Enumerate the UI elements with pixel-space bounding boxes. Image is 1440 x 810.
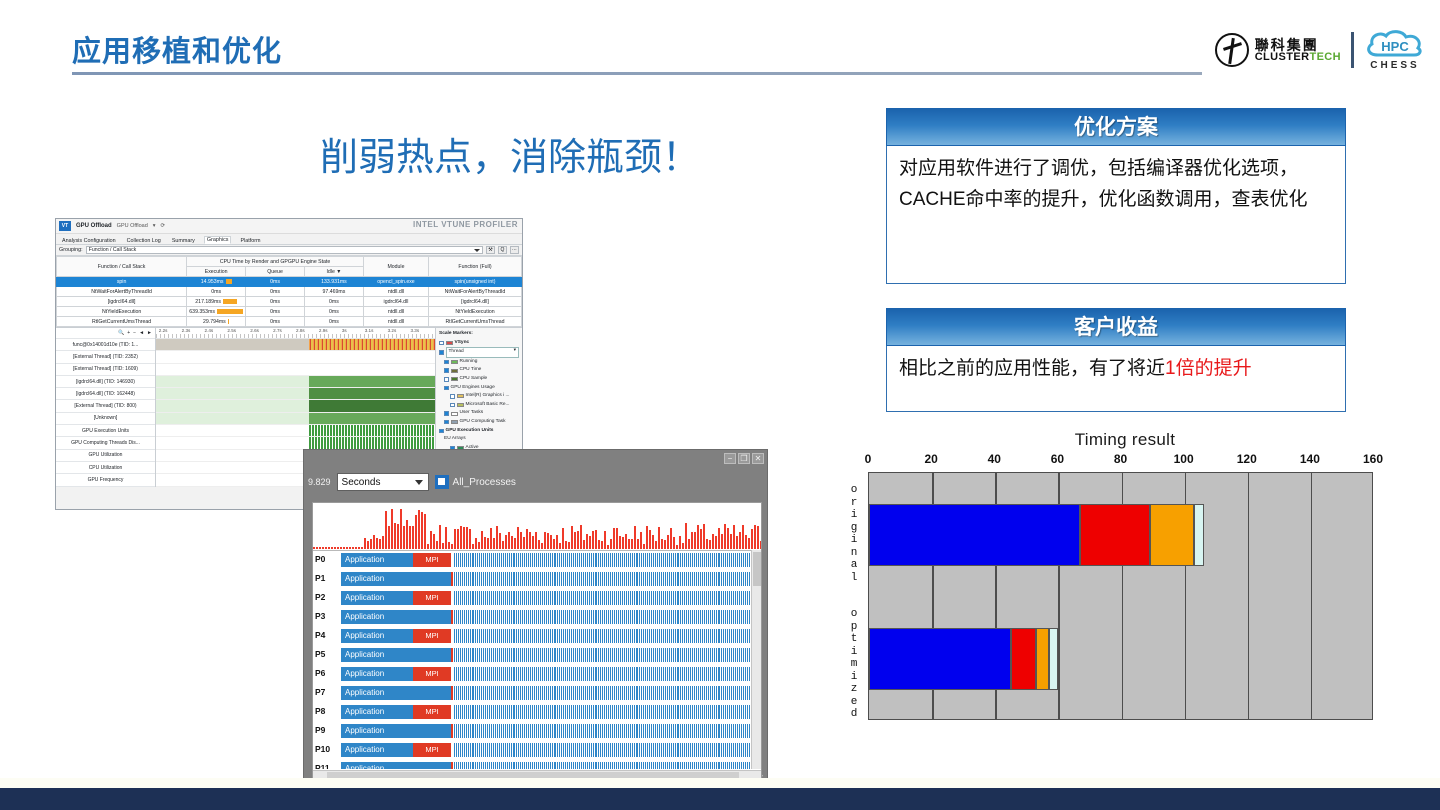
histogram-bar: [343, 547, 345, 549]
timeline-row-label[interactable]: GPU Computing Threads Dis...: [56, 437, 155, 449]
chevron-down-icon: [415, 480, 423, 485]
timeline-track: [156, 425, 435, 437]
histogram-bar: [430, 531, 432, 549]
histogram-bar: [604, 531, 606, 549]
application-segment[interactable]: Application: [341, 629, 413, 643]
trace-process-row[interactable]: P10ApplicationMPI: [313, 741, 761, 760]
histogram-bar: [382, 536, 384, 549]
application-segment[interactable]: Application: [341, 743, 413, 757]
bar-segment-segment-3: [1036, 628, 1049, 690]
legend-label: Microsoft Basic Re...: [466, 401, 510, 410]
clustertech-mark-icon: [1215, 33, 1249, 67]
histogram-bar: [631, 539, 633, 549]
timeline-track: [156, 376, 435, 388]
window-controls[interactable]: − ❐ ✕: [724, 453, 764, 464]
table-cell: ntdll.dll: [363, 317, 428, 327]
histogram-bar: [436, 541, 438, 549]
histogram-bar: [349, 547, 351, 549]
dense-activity-region: [453, 705, 757, 719]
vertical-scrollbar[interactable]: [751, 550, 761, 769]
histogram-bar: [388, 526, 390, 549]
timeline-row-label[interactable]: CPU Utilization: [56, 462, 155, 474]
checkbox-icon[interactable]: [444, 368, 449, 373]
checkbox-icon[interactable]: [444, 411, 449, 416]
checkbox-icon[interactable]: [444, 420, 449, 425]
legend-item[interactable]: GPU Computing Task: [439, 418, 519, 427]
histogram-bar: [319, 547, 321, 549]
bar-segment-segment-2: [1080, 504, 1149, 566]
histogram-bar: [424, 514, 426, 549]
checkbox-icon[interactable]: [450, 403, 455, 408]
mpi-segment[interactable]: MPI: [413, 705, 451, 719]
gridline: [1248, 473, 1250, 719]
histogram-bar: [328, 547, 330, 549]
panel-optimization-body: 对应用软件进行了调优，包括编译器优化选项，CACHE命中率的提升，优化函数调用，…: [886, 146, 1346, 284]
trace-toolbar: 9.829 Seconds All_Processes »: [304, 468, 767, 496]
histogram-bar: [589, 536, 591, 549]
timeline-tool-icon[interactable]: −: [133, 330, 136, 336]
histogram-bar: [721, 534, 723, 549]
histogram-bar: [391, 509, 393, 549]
process-id-label: P3: [315, 611, 325, 621]
timeline-row-label[interactable]: [Unknown]: [56, 413, 155, 425]
histogram-bar: [703, 524, 705, 549]
vtune-tab-collection-log[interactable]: Collection Log: [125, 238, 163, 244]
vtune-app-subtitle: GPU Offload: [117, 223, 148, 229]
legend-item[interactable]: EU Arrays: [439, 435, 519, 444]
histogram-bar: [412, 526, 414, 549]
panel-customer-benefit: 客户收益 相比之前的应用性能，有了将近1倍的提升: [886, 308, 1346, 412]
histogram-bar: [613, 528, 615, 549]
histogram-bar: [439, 525, 441, 549]
trace-viewer-window[interactable]: − ❐ ✕ 9.829 Seconds All_Processes » P0Ap…: [303, 449, 768, 787]
x-axis-tick: 160: [1363, 452, 1383, 466]
application-segment[interactable]: Application: [341, 686, 451, 700]
trace-histogram: [313, 503, 761, 549]
histogram-bar: [526, 529, 528, 549]
mpi-segment[interactable]: MPI: [413, 553, 451, 567]
bar-segment-segment-4: [1194, 504, 1203, 566]
timeline-track: [156, 413, 435, 425]
histogram-bar: [361, 547, 363, 549]
table-cell: NtWaitForAlertByThreadId: [429, 287, 522, 297]
grouping-label: Grouping:: [59, 247, 83, 253]
chess-logo: HPC CHESS: [1364, 29, 1426, 71]
vtune-dropdown-caret-icon[interactable]: ▾: [153, 223, 156, 229]
chevron-down-icon[interactable]: ▾: [514, 347, 516, 356]
legend-swatch: [451, 360, 458, 364]
mpi-segment[interactable]: MPI: [413, 591, 451, 605]
histogram-bar: [355, 547, 357, 549]
table-cell: 0ms: [305, 297, 364, 307]
unit-select-value: Seconds: [342, 477, 381, 488]
ruler-tick: 3.1s: [365, 328, 374, 333]
x-axis-tick: 20: [924, 452, 937, 466]
timeline-track: [156, 364, 435, 376]
application-segment[interactable]: Application: [341, 572, 451, 586]
vtune-titlebar: VT GPU Offload GPU Offload ▾ ⟳ INTEL VTU…: [56, 219, 522, 234]
histogram-bar: [529, 532, 531, 549]
process-id-label: P11: [315, 763, 330, 769]
histogram-bar: [520, 532, 522, 549]
table-row[interactable]: [igdrcl64.dll]217.189ms0ms0msigdrcl64.dl…: [57, 297, 522, 307]
legend-item[interactable]: VSync: [439, 339, 519, 348]
histogram-bar: [523, 537, 525, 549]
dense-activity-region: [453, 572, 757, 586]
histogram-bar: [751, 529, 753, 549]
trace-process-rows[interactable]: P0ApplicationMPIP1ApplicationP2Applicati…: [313, 550, 761, 769]
histogram-bar: [472, 544, 474, 549]
histogram-bar: [316, 547, 318, 549]
svg-text:HPC: HPC: [1381, 39, 1409, 54]
bar-segment-segment-1: [869, 628, 1011, 690]
title-divider: [72, 72, 1202, 75]
histogram-bar: [553, 539, 555, 549]
histogram-bar: [700, 529, 702, 549]
histogram-bar: [754, 525, 756, 549]
histogram-bar: [532, 536, 534, 549]
histogram-bar: [583, 540, 585, 549]
dense-activity-region: [453, 629, 757, 643]
col-group-cpu-time: CPU Time by Render and GPGPU Engine Stat…: [187, 257, 364, 267]
value-bar: [228, 319, 230, 324]
trace-process-row[interactable]: P4ApplicationMPI: [313, 627, 761, 646]
bar-segment-segment-3: [1150, 504, 1194, 566]
trace-process-row[interactable]: P5Application: [313, 646, 761, 665]
checkbox-icon[interactable]: [439, 341, 444, 346]
trace-process-row[interactable]: P8ApplicationMPI: [313, 703, 761, 722]
table-row[interactable]: RtlGetCurrentUmsThread29.794ms0ms0msntdl…: [57, 317, 522, 327]
histogram-bar: [415, 515, 417, 549]
application-segment[interactable]: Application: [341, 591, 413, 605]
minimize-icon[interactable]: −: [724, 453, 736, 464]
vtune-tab-graphics[interactable]: Graphics: [204, 236, 232, 244]
timeline-toolbar[interactable]: 🔍+−◄►: [56, 328, 155, 339]
trace-canvas[interactable]: P0ApplicationMPIP1ApplicationP2Applicati…: [312, 502, 762, 782]
timeline-tool-icon[interactable]: ◄: [139, 330, 144, 336]
legend-label: CPU Sample: [460, 375, 488, 384]
histogram-bar: [451, 544, 453, 549]
histogram-bar: [562, 528, 564, 549]
timeline-row-label[interactable]: [External Thread] (TID: 1609): [56, 364, 155, 376]
legend-item[interactable]: GPU Engines Usage: [439, 384, 519, 393]
legend-item[interactable]: CPU Sample: [439, 375, 519, 384]
table-row[interactable]: NtYieldExecution639.353ms0ms0msntdll.dll…: [57, 307, 522, 317]
legend-item[interactable]: Microsoft Basic Re...: [439, 401, 519, 410]
checkbox-icon[interactable]: [439, 429, 444, 434]
timeline-tool-icon[interactable]: ►: [147, 330, 152, 336]
vtune-tab-summary[interactable]: Summary: [170, 238, 197, 244]
process-id-label: P9: [315, 725, 325, 735]
vtune-tab-platform[interactable]: Platform: [238, 238, 262, 244]
histogram-bar: [433, 534, 435, 549]
legend-swatch: [451, 377, 458, 381]
histogram-bar: [661, 539, 663, 549]
restore-icon[interactable]: ❐: [738, 453, 750, 464]
table-row[interactable]: spin14.953ms0ms133.931msopencl_spin.exes…: [57, 277, 522, 287]
mpi-segment[interactable]: MPI: [413, 629, 451, 643]
vtune-app-name: GPU Offload: [76, 223, 112, 229]
legend-item[interactable]: CPU Time: [439, 366, 519, 375]
table-cell: spin(unsigned int): [429, 277, 522, 287]
vtune-help-icon[interactable]: ⟳: [161, 223, 166, 229]
histogram-bar: [727, 528, 729, 549]
histogram-bar: [409, 526, 411, 549]
legend-item[interactable]: Thread▾: [439, 347, 519, 358]
legend-swatch: [457, 394, 464, 398]
histogram-bar: [466, 527, 468, 549]
histogram-bar: [559, 543, 561, 549]
dense-activity-region: [453, 648, 757, 662]
histogram-bar: [664, 540, 666, 549]
histogram-bar: [730, 534, 732, 549]
trace-process-row[interactable]: P1Application: [313, 570, 761, 589]
table-cell: opencl_spin.exe: [363, 277, 428, 287]
bottom-bar: [0, 788, 1440, 810]
histogram-bar: [445, 527, 447, 549]
application-segment[interactable]: Application: [341, 610, 451, 624]
unit-select[interactable]: Seconds: [337, 473, 429, 491]
value-bar: [217, 309, 243, 314]
histogram-bar: [325, 547, 327, 549]
timeline-track: [156, 400, 435, 412]
x-axis-tick: 140: [1300, 452, 1320, 466]
histogram-bar: [505, 535, 507, 549]
table-header-row-1: Function / Call Stack CPU Time by Render…: [57, 257, 522, 267]
histogram-bar: [463, 527, 465, 549]
histogram-bar: [691, 532, 693, 549]
legend-label: GPU Computing Task: [460, 418, 506, 427]
search-icon[interactable]: Q: [498, 246, 507, 254]
timeline-tool-icon[interactable]: +: [127, 330, 130, 336]
x-axis-tick: 0: [865, 452, 872, 466]
filter-tool-icon[interactable]: ⚒: [486, 246, 495, 254]
legend-item[interactable]: GPU Execution Units: [439, 427, 519, 436]
histogram-bar: [442, 543, 444, 549]
histogram-bar: [313, 547, 315, 549]
histogram-bar: [331, 547, 333, 549]
dense-activity-region: [453, 743, 757, 757]
timeline-row-label[interactable]: [External Thread] (TID: 800): [56, 400, 155, 412]
bar-segment-segment-4: [1049, 628, 1058, 690]
trace-process-row[interactable]: P3Application: [313, 608, 761, 627]
ruler-tick: 2.5s: [227, 328, 236, 333]
histogram-bar: [400, 509, 402, 549]
histogram-bar: [496, 526, 498, 549]
table-cell: 0ms: [246, 277, 305, 287]
value-bar: [223, 299, 237, 304]
application-segment[interactable]: Application: [341, 724, 451, 738]
x-axis-tick: 100: [1174, 452, 1194, 466]
legend-item[interactable]: User Tasks: [439, 409, 519, 418]
checkbox-icon[interactable]: [444, 386, 449, 391]
center-heading: 削弱热点，消除瓶颈！: [300, 126, 720, 181]
timeline-track: [156, 339, 435, 351]
table-cell: 0ms: [246, 307, 305, 317]
grouping-select[interactable]: Function / Call Stack: [86, 246, 483, 254]
histogram-bar: [694, 532, 696, 549]
y-axis-category-label: original: [848, 484, 860, 584]
histogram-bar: [577, 531, 579, 549]
timeline-tool-icon[interactable]: 🔍: [118, 330, 124, 336]
histogram-bar: [556, 535, 558, 549]
histogram-bar: [517, 527, 519, 549]
value-bar: [226, 279, 232, 284]
table-cell: 97.469ms: [305, 287, 364, 297]
histogram-bar: [682, 543, 684, 549]
legend-swatch: [446, 341, 453, 345]
checkbox-icon[interactable]: [439, 350, 444, 355]
histogram-bar: [454, 529, 456, 549]
histogram-bar: [652, 535, 654, 549]
mpi-segment[interactable]: MPI: [413, 743, 451, 757]
process-id-label: P5: [315, 649, 325, 659]
histogram-bar: [448, 542, 450, 549]
application-segment[interactable]: Application: [341, 705, 413, 719]
checkbox-icon[interactable]: [444, 360, 449, 365]
panel-customer-benefit-body: 相比之前的应用性能，有了将近1倍的提升: [886, 346, 1346, 412]
panel-customer-benefit-header: 客户收益: [886, 308, 1346, 346]
application-segment[interactable]: Application: [341, 648, 451, 662]
checkbox-icon[interactable]: [450, 394, 455, 399]
table-row[interactable]: NtWaitForAlertByThreadId0ms0ms97.469msnt…: [57, 287, 522, 297]
histogram-bar: [478, 542, 480, 549]
vertical-scroll-thumb[interactable]: [753, 552, 761, 586]
timeline-row-label[interactable]: GPU Frequency: [56, 474, 155, 486]
histogram-bar: [685, 523, 687, 549]
mpi-segment[interactable]: MPI: [413, 667, 451, 681]
histogram-bar: [502, 541, 504, 549]
histogram-bar: [598, 540, 600, 549]
dense-activity-region: [453, 762, 757, 769]
timeline-row-label[interactable]: [igdrcl64.dll] (TID: 162448): [56, 388, 155, 400]
trace-process-row[interactable]: P0ApplicationMPI: [313, 551, 761, 570]
histogram-bar: [370, 539, 372, 549]
histogram-bar: [406, 520, 408, 549]
dense-activity-region: [453, 686, 757, 700]
legend-label: CPU Time: [460, 366, 482, 375]
histogram-bar: [514, 538, 516, 549]
legend-item[interactable]: Intel(R) Graphics i ...: [439, 392, 519, 401]
histogram-bar: [616, 528, 618, 549]
histogram-bar: [394, 523, 396, 549]
histogram-bar: [541, 543, 543, 549]
histogram-bar: [733, 525, 735, 549]
ruler-tick: 3s: [342, 328, 347, 333]
legend-title: Scale Markers:: [439, 330, 519, 339]
trace-process-row[interactable]: P7Application: [313, 684, 761, 703]
histogram-bar: [469, 529, 471, 549]
legend-swatch: [451, 369, 458, 373]
checkbox-icon[interactable]: [444, 377, 449, 382]
histogram-bar: [622, 537, 624, 549]
histogram-bar: [709, 540, 711, 549]
trace-process-row[interactable]: P6ApplicationMPI: [313, 665, 761, 684]
trace-process-row[interactable]: P11Application: [313, 760, 761, 769]
histogram-bar: [670, 528, 672, 549]
histogram-bar: [718, 528, 720, 549]
process-id-label: P8: [315, 706, 325, 716]
dense-activity-region: [453, 667, 757, 681]
dense-activity-region: [453, 610, 757, 624]
chess-caption: CHESS: [1370, 60, 1419, 71]
bar-segment-segment-1: [869, 504, 1080, 566]
histogram-bar: [736, 536, 738, 549]
histogram-bar: [706, 539, 708, 549]
histogram-bar: [376, 538, 378, 549]
timeline-row-label[interactable]: [External Thread] (TID: 2352): [56, 351, 155, 363]
histogram-bar: [658, 527, 660, 549]
grouping-select-value: Function / Call Stack: [89, 247, 137, 253]
histogram-bar: [418, 510, 420, 549]
vtune-brand: INTEL VTUNE PROFILER: [413, 220, 518, 229]
legend-item[interactable]: Running: [439, 358, 519, 367]
histogram-bar: [592, 531, 594, 549]
table-cell: 14.953ms: [187, 277, 246, 287]
clustertech-en-b: TECH: [1309, 51, 1341, 63]
histogram-bar: [607, 545, 609, 549]
histogram-bar: [715, 536, 717, 549]
application-segment[interactable]: Application: [341, 553, 413, 567]
histogram-bar: [757, 526, 759, 549]
timeline-row-label[interactable]: GPU Utilization: [56, 450, 155, 462]
clustertech-logo: 聯科集團 CLUSTERTECH: [1215, 33, 1341, 67]
vtune-app-badge-icon: VT: [59, 221, 71, 231]
application-segment[interactable]: Application: [341, 762, 451, 769]
histogram-bar: [358, 547, 360, 549]
timeline-track: [156, 351, 435, 363]
col-function-full[interactable]: Function (Full): [429, 257, 522, 277]
histogram-bar: [499, 533, 501, 549]
histogram-bar: [649, 530, 651, 549]
table-cell: NtWaitForAlertByThreadId: [57, 287, 187, 297]
vtune-function-table[interactable]: Function / Call Stack CPU Time by Render…: [56, 256, 522, 327]
more-options-icon[interactable]: ⋯: [510, 246, 519, 254]
timeline-row-label[interactable]: [igdrcl64.dll] (TID: 146930): [56, 376, 155, 388]
histogram-bar: [352, 547, 354, 549]
histogram-bar: [337, 547, 339, 549]
time-value: 9.829: [308, 477, 331, 487]
trace-process-row[interactable]: P9Application: [313, 722, 761, 741]
histogram-bar: [712, 534, 714, 549]
histogram-bar: [403, 526, 405, 549]
timeline-row-label[interactable]: func@0x14001d10e (TID: 1...: [56, 339, 155, 351]
close-icon[interactable]: ✕: [752, 453, 764, 464]
histogram-bar: [484, 537, 486, 549]
hpc-cloud-icon: HPC: [1364, 29, 1426, 59]
histogram-bar: [643, 544, 645, 549]
process-filter[interactable]: All_Processes: [435, 475, 516, 489]
vtune-tab-analysis-configuration[interactable]: Analysis Configuration: [60, 238, 118, 244]
col-queue[interactable]: Queue: [246, 267, 305, 277]
application-segment[interactable]: Application: [341, 667, 413, 681]
col-function[interactable]: Function / Call Stack: [57, 257, 187, 277]
y-axis-category-label: optimized: [848, 608, 860, 721]
process-id-label: P6: [315, 668, 325, 678]
col-execution[interactable]: Execution: [187, 267, 246, 277]
timeline-row-label[interactable]: GPU Execution Units: [56, 425, 155, 437]
table-cell: NtYieldExecution: [57, 307, 187, 317]
histogram-bar: [748, 538, 750, 549]
cream-strip: [0, 778, 1440, 788]
table-cell: 217.189ms: [187, 297, 246, 307]
process-id-label: P2: [315, 592, 325, 602]
trace-process-row[interactable]: P2ApplicationMPI: [313, 589, 761, 608]
histogram-bar: [580, 525, 582, 550]
col-idle[interactable]: Idle ▼: [305, 267, 364, 277]
histogram-bar: [427, 544, 429, 549]
col-module[interactable]: Module: [363, 257, 428, 277]
